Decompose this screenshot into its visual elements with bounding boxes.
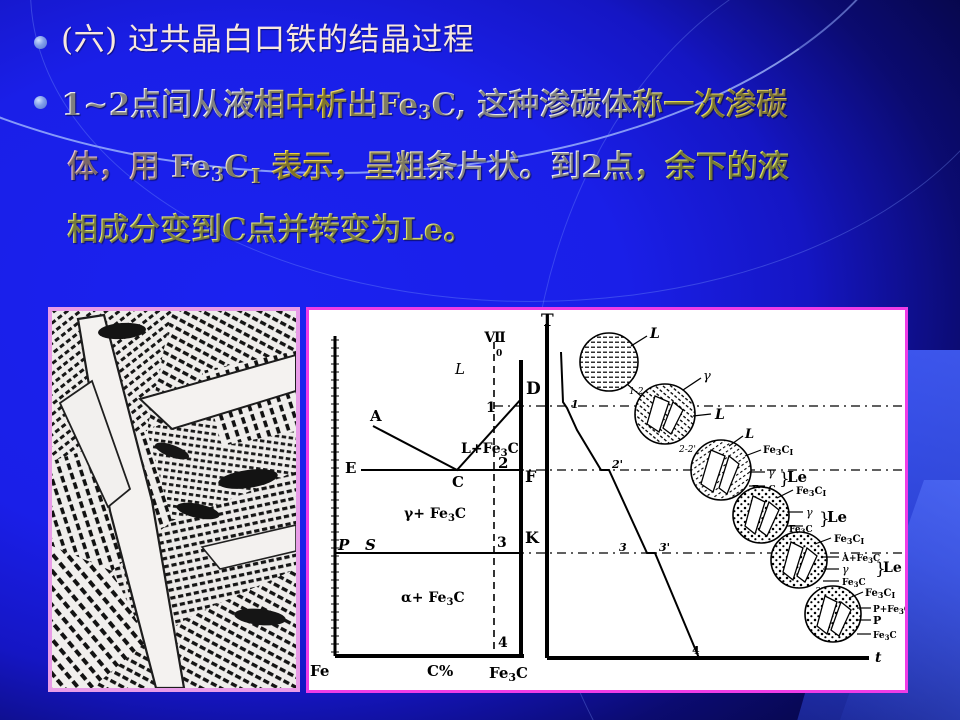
svg-text:Le: Le <box>827 508 847 526</box>
bullet-dot-icon-2 <box>34 96 47 109</box>
micrograph-image <box>52 311 296 688</box>
svg-text:L: L <box>649 326 660 342</box>
bullet-item-heading: (六) 过共晶白口铁的结晶过程 <box>0 18 960 62</box>
svg-text:A: A <box>369 407 382 425</box>
svg-text:γ: γ <box>768 466 775 479</box>
svg-text:Ⅶ: Ⅶ <box>483 330 505 346</box>
svg-text:γ+ Fe3C: γ+ Fe3C <box>404 506 466 524</box>
svg-text:Fe: Fe <box>310 662 329 680</box>
svg-text:T: T <box>541 311 554 331</box>
body-line-2-c: 表示，呈粗条片状。到2点，余下的液 <box>260 149 788 185</box>
svg-text:P: P <box>337 536 350 554</box>
svg-text:2-2': 2-2' <box>678 445 696 455</box>
roman-numeral-one: I <box>249 164 261 188</box>
slide-root: (六) 过共晶白口铁的结晶过程 1~2点间从液相中析出Fe3C, 这种渗碳体称一… <box>0 0 960 720</box>
svg-text:3': 3' <box>659 541 670 554</box>
svg-text:L+Fe3C: L+Fe3C <box>461 441 519 459</box>
svg-text:α+ Fe3C: α+ Fe3C <box>401 590 465 608</box>
svg-text:P: P <box>873 614 881 627</box>
svg-text:Fe3C: Fe3C <box>873 631 897 642</box>
svg-text:t: t <box>875 650 882 666</box>
body-line-2-a: 体，用 Fe <box>67 149 211 185</box>
svg-text:1: 1 <box>486 400 496 416</box>
phase-diagram-panel: L A C E F D K P S Ⅶ 0 1 2 3 4 L+Fe3C γ+ … <box>306 307 908 693</box>
bullet-dot-icon <box>34 36 47 49</box>
svg-text:Fe3C: Fe3C <box>489 664 528 684</box>
svg-text:3: 3 <box>497 535 507 551</box>
microstructure-circle-6: Fe3CI P+Fe3C P Fe3C <box>805 586 905 642</box>
subscript-3-b: 3 <box>211 163 224 186</box>
bullet-item-body: 1~2点间从液相中析出Fe3C, 这种渗碳体称一次渗碳 体，用 Fe3CI 表示… <box>0 78 960 257</box>
svg-text:4: 4 <box>498 635 508 651</box>
microstructure-circle-1: L 1-2 <box>580 326 660 397</box>
svg-text:2': 2' <box>611 458 623 471</box>
svg-text:1: 1 <box>571 398 579 411</box>
svg-text:F: F <box>525 467 537 486</box>
svg-text:3: 3 <box>619 541 627 554</box>
svg-text:γ: γ <box>703 369 711 384</box>
svg-text:Fe3C: Fe3C <box>842 578 866 589</box>
svg-text:Fe3CI: Fe3CI <box>865 588 895 600</box>
body-line-1-b: C, 这种渗碳体称一次渗碳 <box>432 87 788 123</box>
svg-text:C%: C% <box>427 662 453 680</box>
svg-text:Fe3CI: Fe3CI <box>834 534 864 546</box>
micrograph-panel <box>48 307 300 692</box>
body-line-1: 1~2点间从液相中析出Fe3C, 这种渗碳体称一次渗碳 <box>61 78 941 140</box>
svg-text:Fe3CI: Fe3CI <box>763 445 793 457</box>
svg-text:S: S <box>365 536 376 554</box>
body-line-3: 相成分变到C点并转变为Le。 <box>67 203 941 257</box>
svg-text:L: L <box>744 427 754 442</box>
body-line-2: 体，用 Fe3CI 表示，呈粗条片状。到2点，余下的液 <box>67 140 941 203</box>
svg-text:C: C <box>452 473 464 491</box>
svg-text:γ: γ <box>806 506 813 519</box>
svg-text:γ: γ <box>842 563 849 576</box>
svg-text:L: L <box>454 360 465 378</box>
svg-text:Fe3CI: Fe3CI <box>796 486 826 498</box>
svg-text:4: 4 <box>692 644 700 657</box>
svg-text:L: L <box>714 407 725 423</box>
body-paragraph: 1~2点间从液相中析出Fe3C, 这种渗碳体称一次渗碳 体，用 Fe3CI 表示… <box>61 78 941 257</box>
slide-text-block: (六) 过共晶白口铁的结晶过程 1~2点间从液相中析出Fe3C, 这种渗碳体称一… <box>0 18 960 257</box>
heading-text: (六) 过共晶白口铁的结晶过程 <box>61 18 475 62</box>
svg-text:0: 0 <box>496 349 502 359</box>
body-line-1-a: 1~2点间从液相中析出Fe <box>61 87 418 123</box>
svg-text:D: D <box>526 379 541 399</box>
svg-text:E: E <box>345 459 356 477</box>
subscript-3-a: 3 <box>418 101 431 124</box>
body-line-2-b: C <box>224 149 249 185</box>
svg-text:Le: Le <box>787 468 807 486</box>
svg-text:Le: Le <box>883 560 902 576</box>
svg-text:K: K <box>525 528 540 547</box>
